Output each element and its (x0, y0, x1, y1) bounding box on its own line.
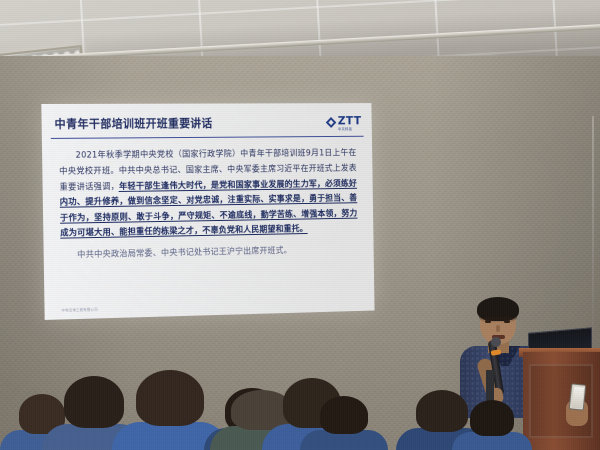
slide-paragraph-1: 2021年秋季学期中央党校（国家行政学院）中青年干部培训班9月1日上午在中央党校… (59, 146, 358, 242)
smartphone-recording (569, 383, 587, 410)
attendee-9-head (470, 400, 514, 436)
logo-subtext: 中天科技 (338, 128, 362, 132)
logo-text: ZTT 中天科技 (338, 112, 362, 131)
slide-paragraph-2: 中共中央政治局常委、中央书记处书记王沪宁出席开班式。 (60, 242, 358, 264)
attendee-9 (452, 396, 532, 450)
projected-slide: 中青年干部培训班开班重要讲话 ZTT 中天科技 2021年秋季学期中央党校（国家… (41, 103, 374, 320)
attendee-7-head (320, 396, 368, 434)
diamond-logo-icon (326, 117, 336, 128)
ztt-logo: ZTT 中天科技 (326, 112, 364, 132)
logo-wordmark: ZTT (338, 114, 362, 128)
presenter-eye-left (485, 320, 491, 323)
presentation-photo: 中青年干部培训班开班重要讲话 ZTT 中天科技 2021年秋季学期中央党校（国家… (0, 0, 600, 450)
slide-footer-note: 中电沿海工程有限公司 (61, 307, 98, 313)
slide-header: 中青年干部培训班开班重要讲话 ZTT 中天科技 (50, 109, 363, 137)
slide-surface: 中青年干部培训班开班重要讲话 ZTT 中天科技 2021年秋季学期中央党校（国家… (41, 103, 374, 320)
attendee-3-head (136, 370, 204, 426)
presenter-eye-right (504, 320, 510, 323)
podium (523, 352, 600, 450)
presenter-nose (496, 325, 500, 332)
attendee-7 (300, 392, 388, 450)
slide-body: 2021年秋季学期中央党校（国家行政学院）中青年干部培训班9月1日上午在中央党校… (42, 137, 374, 263)
slide-title: 中青年干部培训班开班重要讲话 (50, 115, 212, 132)
